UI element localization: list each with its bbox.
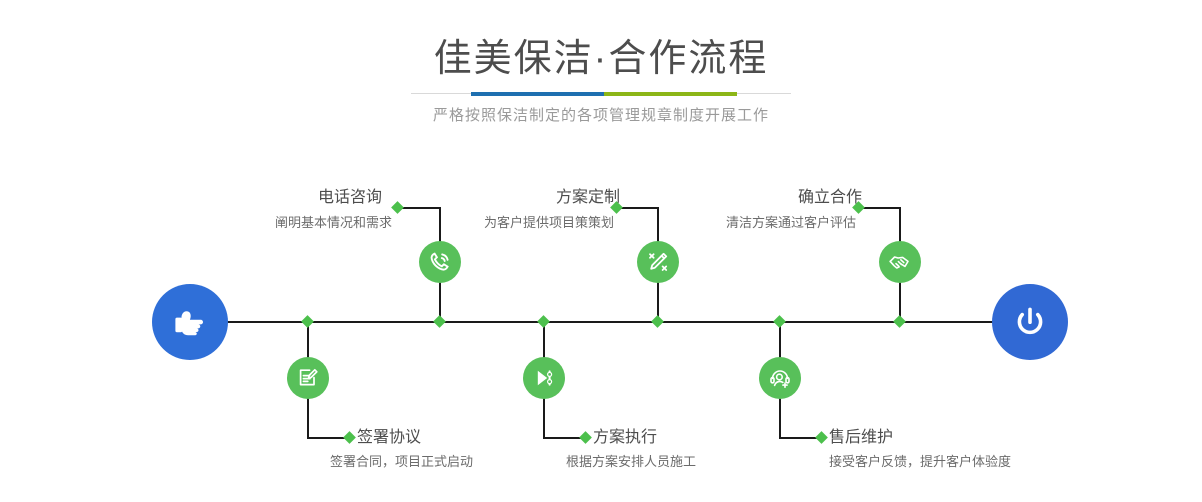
step-top-3-desc: 清洁方案通过客户评估	[586, 214, 856, 232]
step-top-2-icon-node[interactable]	[637, 241, 679, 283]
divider-blue-segment	[471, 92, 604, 96]
step-bottom-1-icon-node[interactable]	[287, 357, 329, 399]
step-top-1-title: 电话咨询	[150, 188, 382, 208]
pencil-plan-icon	[645, 249, 671, 275]
phone-call-icon	[427, 249, 453, 275]
flow-end-endpoint	[992, 284, 1068, 360]
divider-green-segment	[604, 92, 737, 96]
step-top-3-icon-node[interactable]	[879, 241, 921, 283]
step-bottom-3-label-marker	[815, 431, 828, 444]
step-bottom-1-axis-marker	[301, 315, 314, 328]
pointing-hand-icon	[168, 300, 212, 344]
page-title: 佳美保洁·合作流程	[0, 36, 1202, 82]
sign-document-icon	[295, 365, 321, 391]
step-bottom-3-title: 售后维护	[829, 428, 893, 448]
page-subtitle: 严格按照保洁制定的各项管理规章制度开展工作	[0, 104, 1202, 128]
step-top-2-desc: 为客户提供项目策策划	[350, 214, 614, 232]
flow-diagram-canvas: 佳美保洁·合作流程 严格按照保洁制定的各项管理规章制度开展工作	[0, 0, 1202, 502]
step-bottom-1-desc: 签署合同，项目正式启动	[330, 453, 473, 471]
step-bottom-2-desc: 根据方案安排人员施工	[566, 453, 696, 471]
step-bottom-1-label-marker	[343, 431, 356, 444]
step-top-2-axis-marker	[651, 315, 664, 328]
step-bottom-1-title: 签署协议	[357, 428, 421, 448]
customer-support-icon	[767, 365, 793, 391]
step-top-1-icon-node[interactable]	[419, 241, 461, 283]
handshake-icon	[887, 249, 913, 275]
step-top-3-title: 确立合作	[622, 188, 862, 208]
step-bottom-2-icon-node[interactable]	[523, 357, 565, 399]
flow-start-endpoint	[152, 284, 228, 360]
power-icon	[1008, 300, 1052, 344]
step-top-2-title: 方案定制	[380, 188, 620, 208]
play-execute-icon	[531, 365, 557, 391]
title-divider	[411, 92, 791, 96]
step-top-1-axis-marker	[433, 315, 446, 328]
step-bottom-3-axis-marker	[773, 315, 786, 328]
step-bottom-2-title: 方案执行	[593, 428, 657, 448]
step-bottom-2-axis-marker	[537, 315, 550, 328]
timeline-axis	[225, 321, 995, 323]
step-bottom-2-label-marker	[579, 431, 592, 444]
step-bottom-3-icon-node[interactable]	[759, 357, 801, 399]
step-top-3-axis-marker	[893, 315, 906, 328]
step-bottom-3-desc: 接受客户反馈，提升客户体验度	[829, 453, 1011, 471]
